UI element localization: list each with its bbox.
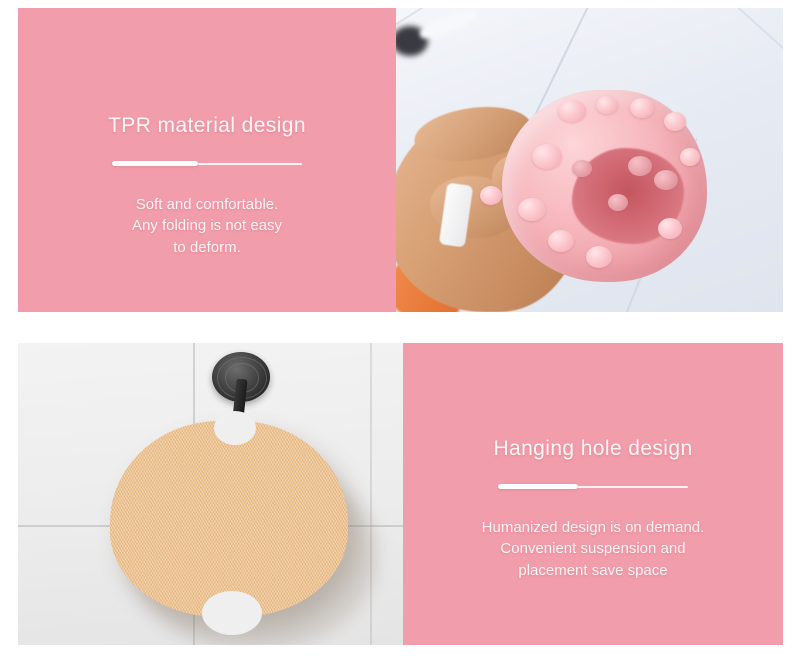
feature-row-top: TPR material design Soft and comfortable… <box>18 8 783 312</box>
panel-hanging-hole-body-line-2: Convenient suspension and <box>403 538 783 559</box>
brush-nub <box>630 98 654 118</box>
panel-tpr-material-body: Soft and comfortable. Any folding is not… <box>18 194 396 258</box>
brush-nub <box>654 170 678 190</box>
panel-tpr-material-body-line-3: to deform. <box>18 237 396 258</box>
beige-silicone-brush <box>110 421 348 617</box>
brush-nub <box>658 218 682 239</box>
brush-nub <box>572 160 592 177</box>
divider-thin-segment <box>578 486 688 488</box>
photo-hand-squeezing-brush <box>396 8 783 312</box>
divider-thick-segment <box>112 161 198 166</box>
divider-thick-segment <box>498 484 578 489</box>
tile-grout-vertical-right <box>370 343 372 645</box>
panel-tpr-material: TPR material design Soft and comfortable… <box>18 8 396 312</box>
panel-tpr-material-divider <box>112 160 302 168</box>
panel-hanging-hole-body-line-3: placement save space <box>403 560 783 581</box>
panel-hanging-hole-body-line-1: Humanized design is on demand. <box>403 517 783 538</box>
panel-tpr-material-body-line-2: Any folding is not easy <box>18 215 396 236</box>
panel-hanging-hole-divider <box>498 483 688 491</box>
brush-nub <box>680 148 700 166</box>
panel-tpr-material-body-line-1: Soft and comfortable. <box>18 194 396 215</box>
brush-bottom-notch <box>202 591 262 635</box>
product-feature-image: TPR material design Soft and comfortable… <box>0 0 800 666</box>
brush-top-notch <box>214 411 256 445</box>
panel-tpr-material-title: TPR material design <box>18 114 396 138</box>
brush-nub <box>548 230 574 252</box>
brush-nub <box>608 194 628 211</box>
brush-nub <box>558 100 586 122</box>
panel-hanging-hole-content: Hanging hole design Humanized design is … <box>403 343 783 581</box>
feature-row-bottom: Hanging hole design Humanized design is … <box>18 343 783 645</box>
brush-nub <box>596 96 618 114</box>
panel-tpr-material-content: TPR material design Soft and comfortable… <box>18 8 396 258</box>
brush-nub <box>518 198 546 221</box>
brush-nub <box>480 186 502 205</box>
panel-hanging-hole: Hanging hole design Humanized design is … <box>403 343 783 645</box>
brush-nub <box>664 112 686 131</box>
panel-hanging-hole-body: Humanized design is on demand. Convenien… <box>403 517 783 581</box>
panel-hanging-hole-title: Hanging hole design <box>403 437 783 461</box>
brush-nub <box>532 144 562 169</box>
brush-nub <box>586 246 612 268</box>
divider-thin-segment <box>198 163 302 165</box>
brush-nub <box>628 156 652 176</box>
photo-brush-on-wall-hook <box>18 343 403 645</box>
